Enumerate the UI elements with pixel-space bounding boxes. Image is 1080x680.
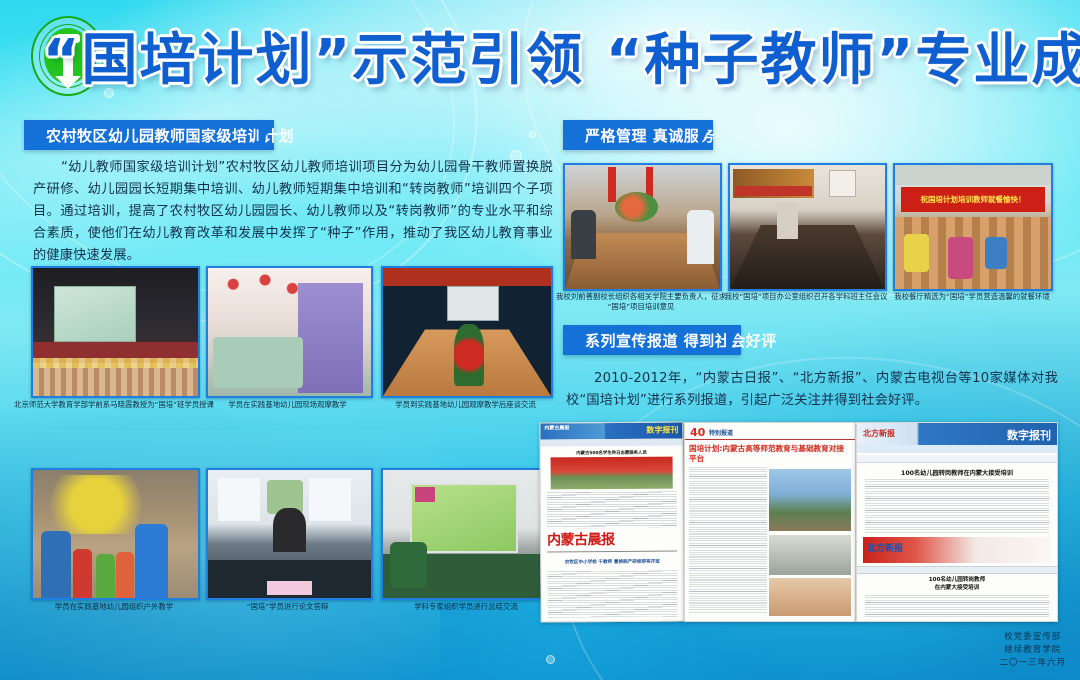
photo-kindergarten-observation[interactable] (206, 266, 373, 398)
page-title: “国培计划”示范引领 “种子教师”专业成长 (120, 14, 1070, 96)
poster-footer: 校党委宣传部 继续教育学院 二〇一三年六月 (999, 631, 1066, 670)
news-subheadline-2: 在内蒙大接受培训 (935, 585, 980, 591)
background-bubble-5 (546, 655, 555, 664)
news-headline: 国培计划:内蒙古高等师范教育与基础教育对接平台 (689, 444, 844, 463)
photo-dining-hall[interactable]: 祝国培计划培训教师就餐愉快！ (893, 163, 1053, 291)
section-header-label: 农村牧区幼儿园教师国家级培训计划 (24, 125, 294, 146)
photo-outdoor-teaching[interactable] (31, 468, 200, 600)
photo-caption: 我校餐厅精选为“国培”学员营造温馨的就餐环境 (886, 292, 1058, 302)
footer-line-1: 校党委宣传部 (999, 631, 1066, 644)
news-masthead-small: 内蒙古晨报 (544, 425, 569, 431)
photo-caption: “国培”学员进行论文答辩 (196, 602, 379, 612)
news-clipping-chenbao[interactable]: 内蒙古晨报 数字报刊 内蒙古500名学生昨日志愿服务人员 内蒙古晨报 农牧区中小… (539, 421, 684, 622)
news-clipping-digital-paper[interactable]: 北方新报 数字报刊 100名幼儿园转岗教师在内蒙大接受培训 北方新报 100名幼… (856, 422, 1058, 622)
news-headline: 100名幼儿园转岗教师在内蒙大接受培训 (901, 470, 1013, 477)
news-digital-label: 数字报刊 (1007, 429, 1051, 442)
photo-office-meeting[interactable] (728, 163, 887, 291)
photo-caption: 我校“国培”项目办公室组织召开各学科班主任会议 (716, 292, 896, 302)
footer-line-3: 二〇一三年六月 (999, 657, 1066, 670)
news-subheadline-1: 100名幼儿园转岗教师 (929, 577, 985, 583)
dining-banner-text: 祝国培计划培训教师就餐愉快！ (920, 194, 1025, 205)
poster-header: “国培计划”示范引领 “种子教师”专业成长 (0, 0, 1080, 108)
news-page-number: 40 (690, 426, 705, 439)
news-subheadline: 农牧区中小学校 千教师 置换脱产研修即将开班 (565, 560, 660, 566)
photo-kindergarten-roundtable[interactable] (381, 266, 553, 398)
news-headline: 内蒙古500名学生昨日志愿服务人员 (576, 451, 647, 456)
footer-line-2: 继续教育学院 (999, 644, 1066, 657)
photo-thesis-defense[interactable] (206, 468, 373, 600)
photo-summary-seminar[interactable] (381, 468, 553, 600)
left-intro-paragraph: “幼儿教师国家级培训计划”农村牧区幼儿教师培训项目分为幼儿园骨干教师置换脱产研修… (33, 157, 553, 267)
section-header-national-training-plan: 农村牧区幼儿园教师国家级培训计划 (24, 120, 274, 150)
photo-leadership-meeting[interactable] (563, 163, 722, 291)
news-clipping-special-report[interactable]: 40 特别报道 国培计划:内蒙古高等师范教育与基础教育对接平台 (684, 422, 856, 622)
news-masthead-big: 内蒙古晨报 (547, 532, 615, 548)
right-media-paragraph: 2010-2012年，“内蒙古日报”、“北方新报”、内蒙古电视台等10家媒体对我… (566, 368, 1058, 412)
section-header-strict-management: 严格管理 真诚服务 (563, 120, 713, 150)
news-digital-label: 数字报刊 (646, 425, 678, 434)
photo-caption: 学员到实践基地幼儿园观摩教学后座谈交流 (368, 400, 563, 410)
section-header-label: 系列宣传报道 得到社会好评 (563, 330, 777, 351)
photo-caption: 我校刘前善副校长组织各相关学院主要负责人，征求“国培”项目培训意见 (552, 292, 730, 312)
photo-caption: 学科专家组织学员进行总结交流 (370, 602, 562, 612)
poster-canvas: “国培计划”示范引领 “种子教师”专业成长 农村牧区幼儿园教师国家级培训计划 “… (0, 0, 1080, 680)
section-header-label: 严格管理 真诚服务 (563, 125, 715, 146)
photo-caption: 学员在实践基地幼儿园现场观摩教学 (195, 400, 380, 410)
section-header-media-coverage: 系列宣传报道 得到社会好评 (563, 325, 741, 355)
background-bubble-4 (529, 131, 536, 138)
news-page-label: 特别报道 (709, 430, 733, 437)
photo-caption: 学员在实践基地幼儿园组织户外教学 (20, 602, 208, 612)
photo-caption: 北京师范大学教育学部学前系马晓霞教授为“国培”班学员授课 (14, 400, 214, 410)
photo-lecture-hall[interactable] (31, 266, 200, 398)
